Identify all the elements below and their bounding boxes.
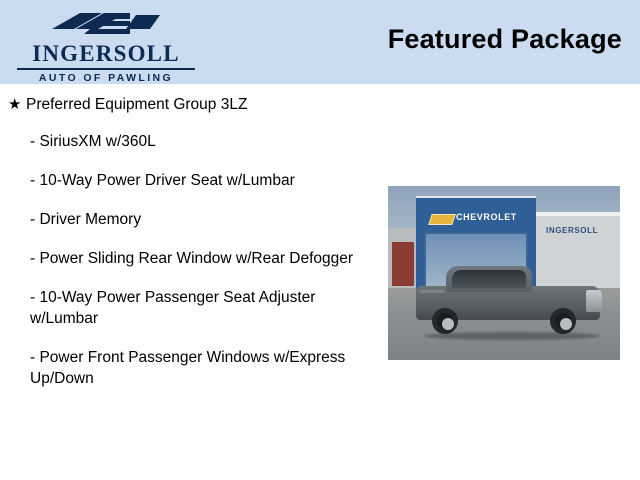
- logo-name: INGERSOLL: [8, 42, 204, 66]
- page-title: Featured Package: [388, 24, 622, 55]
- vehicle-photo: CHEVROLET INGERSOLL: [388, 186, 620, 360]
- star-icon: ★: [8, 95, 26, 114]
- featured-package-page: INGERSOLL AUTO OF PAWLING Featured Packa…: [0, 0, 640, 480]
- truck-bed-line: [420, 290, 444, 293]
- list-item: - Power Front Passenger Windows w/Expres…: [30, 347, 360, 389]
- truck-rear-wheel: [432, 308, 458, 334]
- list-item: - SiriusXM w/360L: [30, 131, 360, 152]
- chevrolet-bowtie-icon: [428, 214, 456, 225]
- truck-front-hub: [560, 318, 572, 330]
- truck-rear-hub: [442, 318, 454, 330]
- page-content: ★ Preferred Equipment Group 3LZ - Sirius…: [0, 84, 640, 480]
- logo-divider: [17, 68, 195, 70]
- package-heading: Preferred Equipment Group 3LZ: [26, 95, 380, 114]
- list-item: - 10-Way Power Passenger Seat Adjuster w…: [30, 287, 360, 329]
- ingersoll-chevron-logo-icon: [8, 8, 204, 42]
- dealer-logo: INGERSOLL AUTO OF PAWLING: [8, 4, 204, 82]
- dealership-sign-text: CHEVROLET: [456, 212, 517, 222]
- truck-front-wheel: [550, 308, 576, 334]
- page-header: INGERSOLL AUTO OF PAWLING Featured Packa…: [0, 0, 640, 84]
- truck-windows: [452, 270, 526, 288]
- pickup-truck: [410, 260, 606, 342]
- package-feature-list: ★ Preferred Equipment Group 3LZ - Sirius…: [8, 95, 380, 389]
- list-item: - Power Sliding Rear Window w/Rear Defog…: [30, 248, 360, 269]
- list-item: - 10-Way Power Driver Seat w/Lumbar: [30, 170, 360, 191]
- truck-grille: [586, 290, 602, 312]
- package-heading-row: ★ Preferred Equipment Group 3LZ: [8, 95, 380, 114]
- list-item: - Driver Memory: [30, 209, 360, 230]
- building-sign-text: INGERSOLL: [546, 226, 598, 235]
- truck-shadow: [424, 332, 600, 340]
